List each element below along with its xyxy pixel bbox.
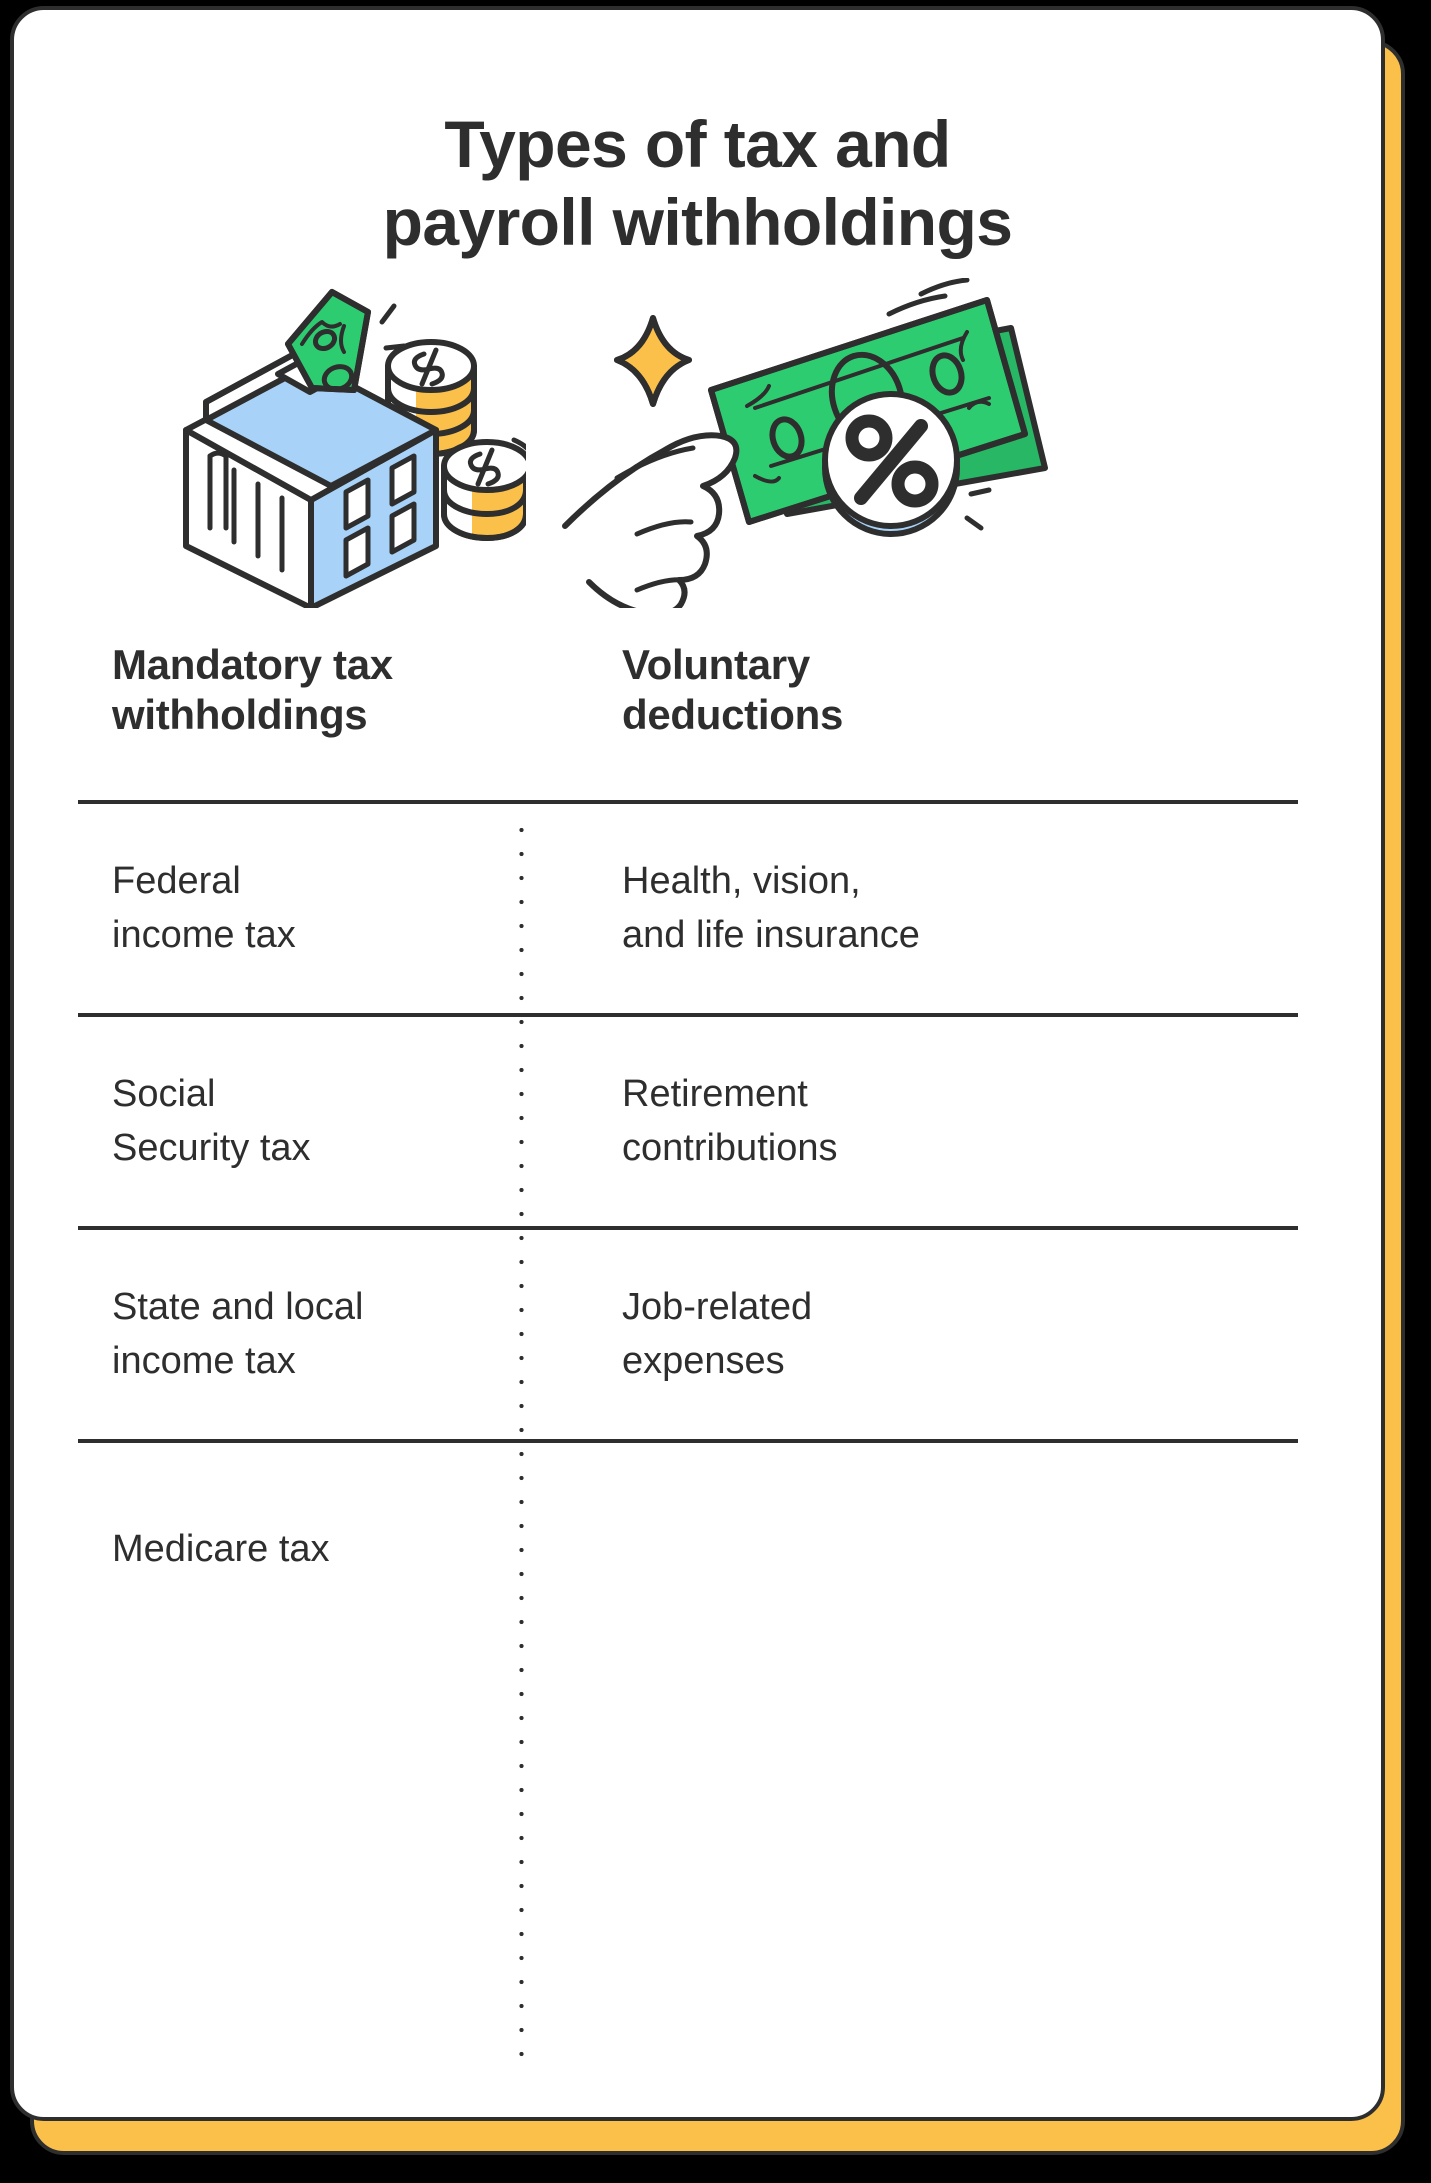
bank-building-illustration [106, 278, 526, 613]
table-row: Medicare tax [72, 1443, 1322, 1657]
cell-mandatory-2: Social Security tax [72, 1068, 522, 1176]
sparkle-icon [617, 318, 689, 404]
coin-stack-front [444, 440, 526, 538]
illustration-row [14, 278, 1381, 608]
page-title: Types of tax and payroll withholdings [14, 106, 1381, 262]
table-row: Federal income tax Health, vision, and l… [72, 804, 1322, 1013]
coin-ticks [967, 490, 989, 528]
header-gutter [522, 618, 580, 800]
hand-cash-percent-illustration [559, 278, 1099, 613]
hand [565, 435, 736, 608]
column-dotted-separator [519, 818, 524, 2063]
cell-mandatory-1: Federal income tax [72, 855, 522, 963]
table-row: State and local income tax Job-related e… [72, 1230, 1322, 1439]
infographic-card: Types of tax and payroll withholdings [10, 6, 1385, 2121]
cell-voluntary-1: Health, vision, and life insurance [580, 855, 1322, 963]
sparkle-ticks [382, 306, 404, 348]
column-header-voluntary: Voluntary deductions [580, 618, 1322, 800]
table-header-row: Mandatory tax withholdings Voluntary ded… [72, 618, 1322, 800]
cell-mandatory-3: State and local income tax [72, 1281, 522, 1389]
infographic-stage: Types of tax and payroll withholdings [0, 0, 1431, 2183]
cell-voluntary-3: Job-related expenses [580, 1281, 1322, 1389]
column-header-mandatory: Mandatory tax withholdings [72, 618, 522, 800]
cell-voluntary-2: Retirement contributions [580, 1068, 1322, 1176]
withholdings-table: Mandatory tax withholdings Voluntary ded… [72, 618, 1322, 1657]
table-row: Social Security tax Retirement contribut… [72, 1017, 1322, 1226]
cell-mandatory-4: Medicare tax [72, 1523, 522, 1577]
